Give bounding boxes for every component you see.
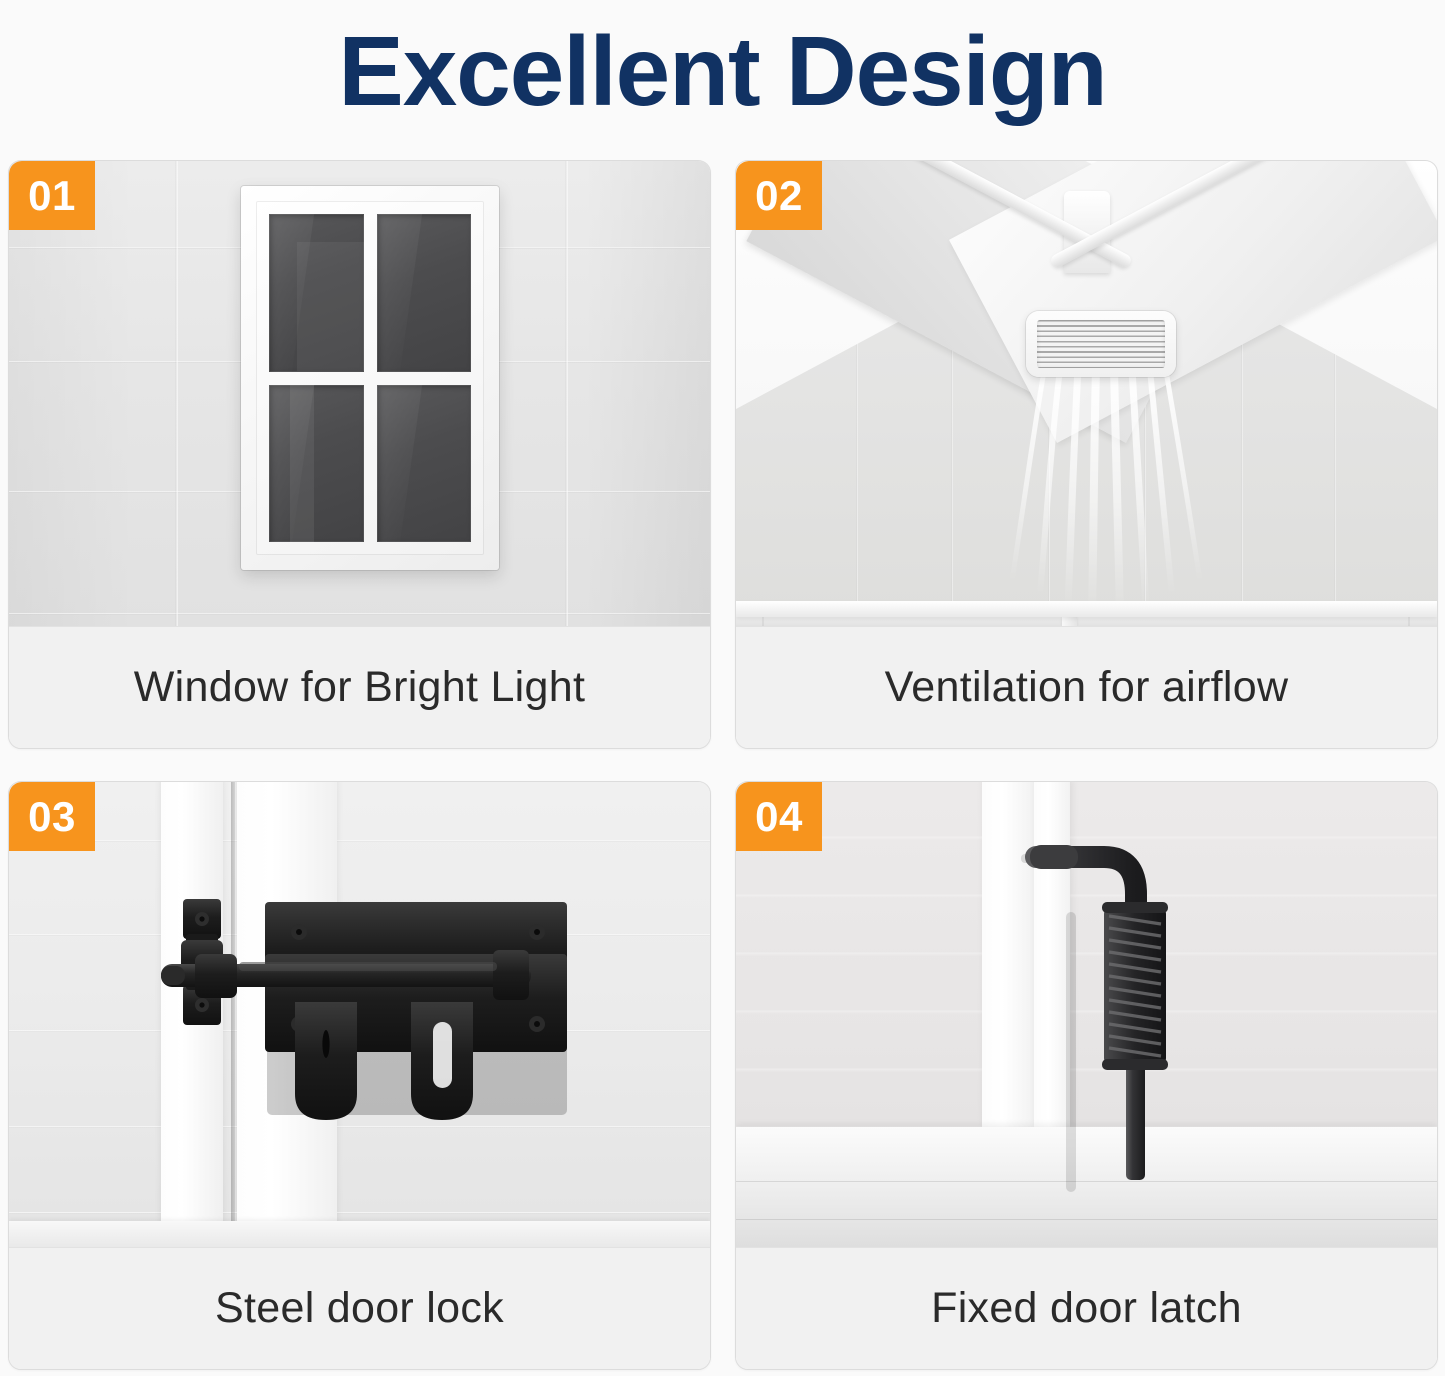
door-edge bbox=[1408, 617, 1410, 626]
step-badge-number: 04 bbox=[755, 796, 803, 838]
feature-image-window: 01 bbox=[9, 161, 710, 626]
door-mullion bbox=[1062, 617, 1077, 626]
feature-card-02[interactable]: 02 Ventilation for airflow bbox=[735, 160, 1438, 749]
feature-caption-bar-01: Window for Bright Light bbox=[9, 626, 710, 748]
latch-grip-cap bbox=[1030, 845, 1078, 869]
page-title: Excellent Design bbox=[338, 22, 1106, 120]
steel-door-lock-icon bbox=[9, 782, 710, 1247]
feature-image-door-latch: 04 bbox=[736, 782, 1437, 1247]
step-badge-01: 01 bbox=[9, 161, 95, 230]
ventilation-scene bbox=[736, 161, 1437, 626]
shed-doors bbox=[736, 617, 1437, 626]
feature-caption-bar-03: Steel door lock bbox=[9, 1247, 710, 1369]
door-lock-scene bbox=[9, 782, 710, 1247]
feature-card-01[interactable]: 01 Window for Bright Light bbox=[8, 160, 711, 749]
window-scene bbox=[9, 161, 710, 626]
window-pane bbox=[377, 214, 472, 372]
vent-slats bbox=[1037, 320, 1165, 368]
step-badge-number: 02 bbox=[755, 175, 803, 217]
step-badge-04: 04 bbox=[736, 782, 822, 851]
siding-seam bbox=[9, 613, 710, 615]
step-badge-03: 03 bbox=[9, 782, 95, 851]
page-title-container: Excellent Design bbox=[0, 0, 1445, 142]
infographic-page: Excellent Design bbox=[0, 0, 1445, 1376]
fixed-door-latch-icon bbox=[736, 782, 1437, 1247]
feature-card-04[interactable]: 04 Fixed door latch bbox=[735, 781, 1438, 1370]
feature-card-03[interactable]: 03 Steel door lock bbox=[8, 781, 711, 1370]
window-pane bbox=[269, 385, 364, 543]
siding-joint bbox=[175, 161, 178, 626]
step-badge-number: 01 bbox=[28, 175, 76, 217]
door-latch-scene bbox=[736, 782, 1437, 1247]
window-pane bbox=[377, 385, 472, 543]
feature-caption-bar-02: Ventilation for airflow bbox=[736, 626, 1437, 748]
latch-spring-housing bbox=[1102, 902, 1168, 1070]
door-edge bbox=[762, 617, 764, 626]
feature-caption-04: Fixed door latch bbox=[931, 1284, 1242, 1333]
feature-image-ventilation: 02 bbox=[736, 161, 1437, 626]
ventilation-louver-icon bbox=[1026, 311, 1176, 377]
feature-image-door-lock: 03 bbox=[9, 782, 710, 1247]
siding-joint bbox=[565, 161, 568, 626]
feature-caption-bar-04: Fixed door latch bbox=[736, 1247, 1437, 1369]
step-badge-02: 02 bbox=[736, 161, 822, 230]
feature-caption-01: Window for Bright Light bbox=[134, 663, 585, 712]
wall-band bbox=[736, 601, 1437, 617]
window-pane bbox=[269, 214, 364, 372]
feature-caption-02: Ventilation for airflow bbox=[885, 663, 1289, 712]
feature-grid: 01 Window for Bright Light bbox=[8, 160, 1438, 1370]
window-frame bbox=[241, 186, 499, 570]
window-sash bbox=[256, 201, 484, 555]
feature-caption-03: Steel door lock bbox=[215, 1284, 504, 1333]
step-badge-number: 03 bbox=[28, 796, 76, 838]
